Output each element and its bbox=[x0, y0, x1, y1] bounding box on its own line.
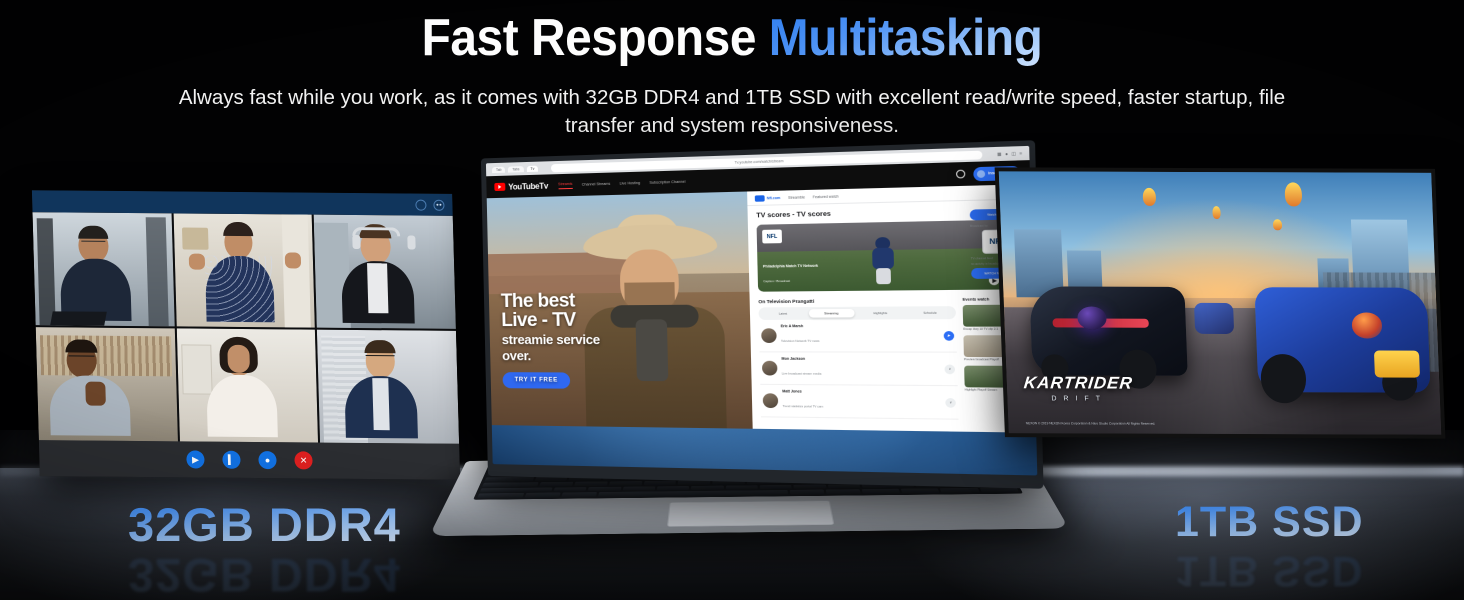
video-subtitle: Caption / Broadcast bbox=[763, 279, 790, 283]
list-item-meta: Trend statistics portal TV cam bbox=[783, 404, 824, 409]
filter-tabs: Latest Streaming Highlights Schedule bbox=[758, 306, 956, 320]
browser-tab-active[interactable]: Tv bbox=[526, 165, 538, 171]
headline-part-1: Fast Response bbox=[422, 9, 769, 67]
page-subtitle: Always fast while you work, as it comes … bbox=[142, 84, 1322, 141]
filter-tab-highlights[interactable]: Highlights bbox=[857, 309, 903, 318]
chat-bubble-icon[interactable]: ● bbox=[258, 451, 277, 469]
search-icon[interactable] bbox=[955, 170, 964, 179]
participant-tile[interactable] bbox=[314, 215, 456, 329]
extensions-icon[interactable]: ▦ bbox=[997, 151, 1002, 157]
game-screen: KARTRIDER DRIFT NEXON © 2019 NEXON Korea… bbox=[995, 167, 1446, 438]
nfl-badge: NFL bbox=[762, 229, 782, 243]
hero-title-line-4: over. bbox=[502, 349, 687, 364]
browser-tab[interactable]: Tabs bbox=[508, 166, 523, 172]
browser-window: Tab Tabs Tv Tv.youtube.com/watch/stream … bbox=[486, 146, 1036, 433]
tab-nfl[interactable]: Nfl.com bbox=[755, 194, 781, 201]
avatar bbox=[762, 361, 778, 376]
nav-item-channel-streams[interactable]: Channel Streams bbox=[582, 182, 611, 187]
profile-icon[interactable]: ● bbox=[1005, 151, 1008, 157]
minimize-icon[interactable] bbox=[415, 199, 426, 210]
avatar bbox=[976, 170, 984, 178]
page-title: Fast Response Multitasking bbox=[59, 8, 1406, 68]
tab-streamble[interactable]: Streamble bbox=[788, 195, 805, 200]
nav-item-streamis[interactable]: Streamis bbox=[558, 181, 573, 188]
copyright-text: NEXON © 2019 NEXON Korea Corporation & N… bbox=[1026, 421, 1156, 425]
participant-tile[interactable] bbox=[173, 213, 315, 327]
participant-tile[interactable] bbox=[32, 212, 174, 326]
play-icon[interactable]: ▶ bbox=[944, 330, 955, 340]
tab-label: Nfl.com bbox=[767, 195, 781, 200]
participant-tile[interactable] bbox=[176, 328, 318, 442]
section-title: On Television Prangatti bbox=[758, 297, 955, 304]
list-item-name: Matt Jones bbox=[782, 389, 823, 394]
signal-bars-icon[interactable]: ▍ bbox=[222, 451, 241, 469]
tab-featured-watch[interactable]: Featured watch bbox=[813, 194, 839, 199]
hero-title-line-1: The best bbox=[501, 290, 686, 311]
try-it-free-button[interactable]: TRY IT FREE bbox=[503, 372, 571, 389]
list-item-name: Mon Jackson bbox=[781, 357, 821, 361]
brand-name: YouTubeTv bbox=[508, 181, 548, 191]
hero-title-line-3: streamie service bbox=[502, 332, 687, 347]
kartrider-artwork: KARTRIDER DRIFT NEXON © 2019 NEXON Korea… bbox=[999, 171, 1441, 434]
video-title: Philadelphia Match TV Network bbox=[763, 264, 818, 269]
promo-banner: Fast Response Multitasking Always fast w… bbox=[0, 0, 1464, 600]
call-controls: ▶ ▍ ● ✕ bbox=[39, 440, 460, 480]
browser-tab[interactable]: Tab bbox=[492, 166, 505, 172]
hero-banner: The best Live - TV streamie service over… bbox=[487, 192, 753, 429]
list-item-name: Eric A Marsh bbox=[781, 324, 820, 328]
nav-item-live-hosting[interactable]: Live Hosting bbox=[620, 181, 641, 186]
chevron-down-icon[interactable]: ∨ bbox=[944, 364, 955, 374]
video-call-window: ▶ ▍ ● ✕ bbox=[32, 190, 460, 480]
youtube-tv-logo[interactable]: YouTubeTv bbox=[494, 181, 548, 192]
storage-label-reflection: 1TB SSD bbox=[1175, 546, 1364, 595]
helmet-purple bbox=[1077, 306, 1107, 329]
nfl-chip-icon bbox=[755, 195, 765, 202]
camera-icon[interactable]: ▶ bbox=[186, 450, 205, 468]
participant-grid bbox=[32, 212, 459, 444]
filter-tab-streaming[interactable]: Streaming bbox=[809, 309, 854, 318]
laptop: Tab Tabs Tv Tv.youtube.com/watch/stream … bbox=[468, 158, 1028, 578]
nav-item-subscription[interactable]: Subscription Channel bbox=[649, 180, 685, 185]
filter-tab-schedule[interactable]: Schedule bbox=[907, 308, 954, 317]
kart-purple bbox=[1029, 287, 1188, 377]
game-logo: KARTRIDER DRIFT bbox=[1024, 373, 1134, 402]
list-item-meta: Television Network TV news bbox=[781, 339, 820, 343]
avatar bbox=[763, 393, 779, 408]
end-call-icon[interactable]: ✕ bbox=[294, 451, 313, 469]
list-item-meta: Live broadcast stream media bbox=[782, 371, 822, 375]
helmet-blue bbox=[1352, 313, 1382, 338]
hero-title-line-2: Live - TV bbox=[501, 310, 686, 331]
ram-spec-label: 32GB DDR4 bbox=[128, 497, 401, 552]
laptop-screen: Tab Tabs Tv Tv.youtube.com/watch/stream … bbox=[481, 140, 1044, 489]
split-icon[interactable]: ◫ bbox=[1011, 151, 1016, 157]
site-nav: Streamis Channel Streams Live Hosting Su… bbox=[558, 178, 685, 189]
trackpad[interactable] bbox=[667, 500, 834, 526]
nfl-content-panel: Nfl.com Streamble Featured watch TV scor… bbox=[747, 184, 1036, 433]
storage-spec-label: 1TB SSD bbox=[1175, 498, 1364, 547]
filter-tab-latest[interactable]: Latest bbox=[761, 309, 806, 318]
list-item[interactable]: Mon Jackson Live broadcast stream media … bbox=[760, 352, 958, 386]
avatar bbox=[761, 328, 777, 343]
game-logo-sub: DRIFT bbox=[1025, 395, 1134, 402]
chevron-down-icon[interactable]: ∨ bbox=[945, 397, 956, 407]
kart-blue bbox=[1254, 287, 1431, 392]
list-item[interactable]: Eric A Marsh Television Network TV news … bbox=[759, 319, 957, 353]
headline-part-2: Multitasking bbox=[769, 9, 1043, 67]
list-item[interactable]: Matt Jones Trend statistics portal TV ca… bbox=[760, 385, 958, 420]
participant-tile[interactable] bbox=[317, 330, 459, 444]
ram-label-reflection: 32GB DDR4 bbox=[128, 548, 401, 600]
participant-tile[interactable] bbox=[36, 327, 178, 441]
more-options-icon[interactable] bbox=[433, 199, 444, 210]
play-button-icon bbox=[494, 183, 505, 191]
menu-icon[interactable]: ≡ bbox=[1019, 150, 1022, 156]
game-logo-main: KARTRIDER bbox=[1023, 373, 1134, 393]
kart-background bbox=[1194, 303, 1234, 335]
subtitle-line-1: Always fast while you work, as it comes … bbox=[179, 86, 1122, 109]
